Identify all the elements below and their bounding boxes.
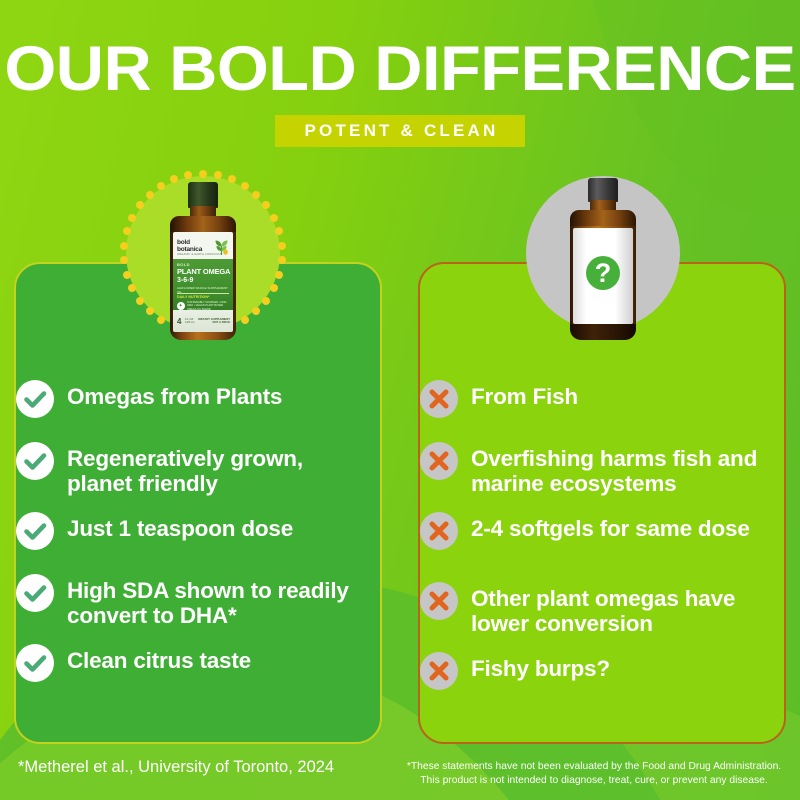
ring-dot: [252, 191, 260, 199]
list-item: Omegas from Plants: [16, 380, 382, 438]
ring-dot: [157, 182, 165, 190]
list-item: Other plant omegas have lower conversion: [420, 582, 786, 648]
fda-disclaimer: *These statements have not been evaluate…: [392, 760, 796, 788]
x-icon: [420, 512, 458, 550]
bottle-shoulder: [170, 216, 236, 232]
question-mark-icon: ?: [586, 256, 620, 290]
check-icon: [16, 380, 54, 418]
list-item: Fishy burps?: [420, 652, 786, 710]
ring-dot: [136, 297, 144, 305]
list-item: High SDA shown to readily convert to DHA…: [16, 574, 382, 640]
list-item: Clean citrus taste: [16, 644, 382, 702]
ring-dot: [214, 171, 222, 179]
bottle-label-front: bold botanica ORGANIC & EARTH CONSCIOUS …: [173, 232, 233, 332]
citation-footnote: *Metherel et al., University of Toronto,…: [18, 758, 334, 777]
list-item-label: Overfishing harms fish and marine ecosys…: [471, 442, 771, 496]
ring-dot: [146, 307, 154, 315]
fda-disclaimer-line-2: This product is not intended to diagnose…: [392, 774, 796, 788]
label-product-name: PLANT OMEGA: [177, 268, 230, 276]
ring-dot: [262, 201, 270, 209]
label-size-unit: FL OZ 118 mL: [185, 318, 195, 325]
ring-dot: [278, 242, 286, 250]
list-item-label: From Fish: [471, 380, 578, 409]
poster-canvas: OUR BOLD DIFFERENCE POTENT & CLEAN bold …: [0, 0, 800, 800]
label-seal-icon: [177, 302, 185, 310]
bottle-shoulder: [570, 210, 636, 226]
page-title: OUR BOLD DIFFERENCE: [0, 0, 800, 101]
ring-dot: [275, 271, 283, 279]
bottle-cap: [188, 182, 218, 208]
label-supplement-sub: NOT A DRUG: [198, 321, 230, 324]
label-divider: [177, 293, 229, 294]
ring-dot: [252, 307, 260, 315]
ring-dot: [275, 227, 283, 235]
list-item: 2-4 softgels for same dose: [420, 512, 786, 578]
ring-dot: [120, 256, 128, 264]
list-item-label: Clean citrus taste: [67, 644, 251, 673]
x-icon: [420, 582, 458, 620]
ring-dot: [123, 227, 131, 235]
ring-dot: [123, 271, 131, 279]
drawbacks-list: From FishOverfishing harms fish and mari…: [420, 380, 786, 714]
badge-wrapper: POTENT & CLEAN: [0, 115, 800, 147]
list-item-label: Other plant omegas have lower conversion: [471, 582, 771, 636]
bottle-body: bold botanica ORGANIC & EARTH CONSCIOUS …: [170, 216, 236, 340]
check-icon: [16, 442, 54, 480]
header: OUR BOLD DIFFERENCE POTENT & CLEAN: [0, 0, 800, 147]
brand-name: bold botanica: [177, 239, 202, 253]
x-icon: [420, 442, 458, 480]
brand-line-1: bold: [177, 239, 202, 246]
list-item: Just 1 teaspoon dose: [16, 512, 382, 570]
ring-dot: [136, 201, 144, 209]
bottle-cap: [588, 178, 618, 202]
label-daily-claim: DAILY NUTRITION*: [177, 295, 209, 299]
subtitle-badge: POTENT & CLEAN: [275, 115, 524, 147]
list-item-label: Omegas from Plants: [67, 380, 282, 409]
label-blurb: SUSTAINABLY SOURCED • NON-GMO • VEGAN PL…: [187, 301, 229, 311]
brand-line-2: botanica: [177, 246, 202, 253]
ring-dot: [278, 256, 286, 264]
unknown-fish-oil-bottle: ?: [570, 178, 636, 340]
ring-dot: [146, 191, 154, 199]
list-item-label: Regeneratively grown, planet friendly: [67, 442, 367, 496]
blank-bottle-label: ?: [573, 228, 633, 324]
list-item-label: Just 1 teaspoon dose: [67, 512, 293, 541]
label-supplement-mark: DIETARY SUPPLEMENT NOT A DRUG: [198, 318, 230, 325]
list-item-label: Fishy burps?: [471, 652, 610, 681]
bottle-bottom-shadow: [570, 324, 636, 340]
list-item-label: High SDA shown to readily convert to DHA…: [67, 574, 367, 628]
fda-disclaimer-line-1: *These statements have not been evaluate…: [392, 760, 796, 774]
ring-dot: [270, 284, 278, 292]
ring-dot: [157, 316, 165, 324]
label-size-ml: 118 mL: [185, 321, 195, 324]
ring-dot: [128, 214, 136, 222]
check-icon: [16, 512, 54, 550]
bold-botanica-bottle: bold botanica ORGANIC & EARTH CONSCIOUS …: [170, 182, 236, 340]
check-icon: [16, 644, 54, 682]
list-item: Regeneratively grown, planet friendly: [16, 442, 382, 508]
x-icon: [420, 380, 458, 418]
ring-dot: [184, 171, 192, 179]
ring-dot: [120, 242, 128, 250]
ring-dot: [241, 182, 249, 190]
check-icon: [16, 574, 54, 612]
bottle-body: ?: [570, 210, 636, 340]
ring-dot: [262, 297, 270, 305]
ring-dot: [241, 316, 249, 324]
ring-dot: [128, 284, 136, 292]
ring-dot: [199, 170, 207, 178]
benefits-list: Omegas from PlantsRegeneratively grown, …: [16, 380, 382, 706]
ring-dot: [270, 214, 278, 222]
x-icon: [420, 652, 458, 690]
label-size-number: 4: [177, 317, 181, 326]
list-item: Overfishing harms fish and marine ecosys…: [420, 442, 786, 508]
list-item: From Fish: [420, 380, 786, 438]
leaf-logo-icon: [214, 238, 229, 257]
list-item-label: 2-4 softgels for same dose: [471, 512, 750, 541]
label-omega-numbers: 3-6-9: [177, 277, 193, 284]
